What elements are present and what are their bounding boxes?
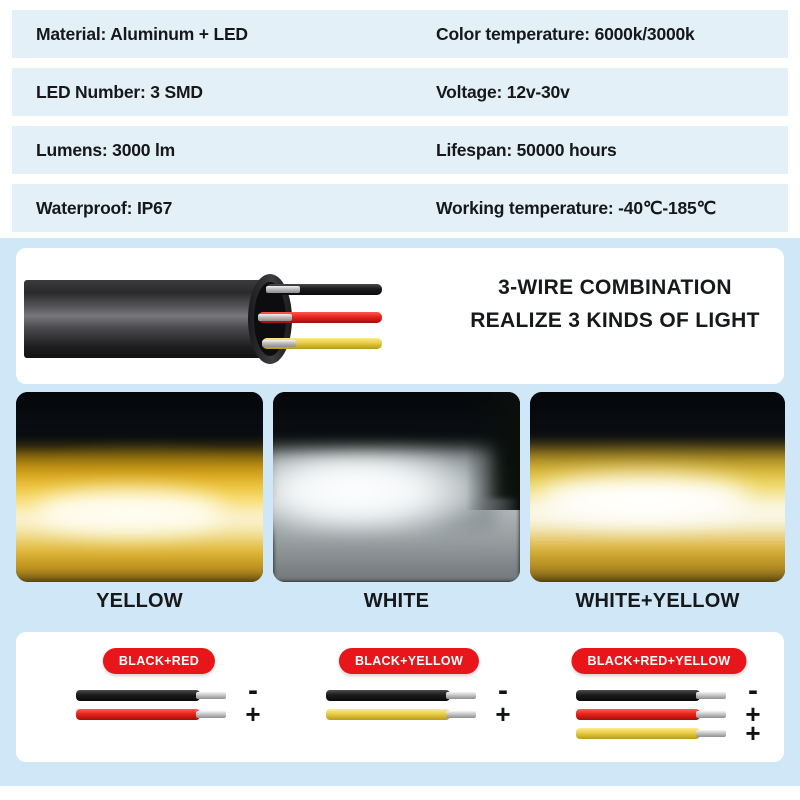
beam-photo-white <box>273 392 520 582</box>
wire-group: - + <box>76 690 256 728</box>
wire-tip <box>696 692 726 699</box>
status-badge: BLACK+RED <box>103 648 215 674</box>
cable-sheath <box>24 280 268 358</box>
polarity-positive: + <box>240 701 266 727</box>
wire-row: - <box>326 690 506 702</box>
wiring-combo-black-red-yellow: BLACK+RED+YELLOW - + + <box>534 632 784 762</box>
wire-tip <box>446 711 476 718</box>
wire-tip <box>696 730 726 737</box>
wire-row: - <box>576 690 756 702</box>
beam-photo-white-yellow <box>530 392 785 582</box>
wire-row: + <box>326 709 506 721</box>
cable-headline-line-1: 3-WIRE COMBINATION <box>452 272 778 305</box>
wire-yellow-icon <box>326 709 450 720</box>
wire-tip <box>696 711 726 718</box>
wire-tip <box>258 314 292 321</box>
cable-headline-line-2: REALIZE 3 KINDS OF LIGHT <box>452 305 778 338</box>
wiring-combo-black-yellow: BLACK+YELLOW - + <box>284 632 534 762</box>
three-wire-cable-illustration <box>22 254 452 378</box>
table-row: Lumens: 3000 lm Lifespan: 50000 hours <box>12 126 788 174</box>
cable-wire-black-icon <box>266 284 382 295</box>
wire-red-icon <box>76 709 200 720</box>
wire-group: - + + <box>576 690 756 747</box>
polarity-positive: + <box>740 720 766 746</box>
polarity-positive: + <box>490 701 516 727</box>
cable-wire-yellow-icon <box>262 338 382 349</box>
beam-label-white-yellow: WHITE+YELLOW <box>530 590 785 613</box>
cable-feature-card: 3-WIRE COMBINATION REALIZE 3 KINDS OF LI… <box>16 248 784 384</box>
wire-row: + <box>576 728 756 740</box>
wire-black-icon <box>76 690 200 701</box>
wire-yellow-icon <box>576 728 700 739</box>
spec-lifespan: Lifespan: 50000 hours <box>436 140 617 161</box>
table-row: LED Number: 3 SMD Voltage: 12v-30v <box>12 68 788 116</box>
wire-tip <box>266 286 300 293</box>
photo-shadow <box>466 392 520 510</box>
product-infographic: Material: Aluminum + LED Color temperatu… <box>0 0 800 800</box>
spec-material: Material: Aluminum + LED <box>36 24 436 45</box>
wire-tip <box>446 692 476 699</box>
wire-tip <box>196 692 226 699</box>
wire-row: + <box>576 709 756 721</box>
status-badge: BLACK+RED+YELLOW <box>571 648 746 674</box>
beam-label-white: WHITE <box>273 590 520 613</box>
wire-black-icon <box>326 690 450 701</box>
beam-photo-gallery <box>0 392 800 588</box>
beam-label-yellow: YELLOW <box>16 590 263 613</box>
spec-led-number: LED Number: 3 SMD <box>36 82 436 103</box>
table-row: Material: Aluminum + LED Color temperatu… <box>12 10 788 58</box>
wire-black-icon <box>576 690 700 701</box>
blue-content-panel: 3-WIRE COMBINATION REALIZE 3 KINDS OF LI… <box>0 238 800 786</box>
wire-row: + <box>76 709 256 721</box>
table-row: Waterproof: IP67 Working temperature: -4… <box>12 184 788 232</box>
wire-group: - + <box>326 690 506 728</box>
wiring-combination-card: BLACK+RED - + BLACK+YELLOW <box>16 632 784 762</box>
spec-lumens: Lumens: 3000 lm <box>36 140 436 161</box>
specifications-table: Material: Aluminum + LED Color temperatu… <box>0 0 800 238</box>
status-badge: BLACK+YELLOW <box>339 648 479 674</box>
spec-color-temperature: Color temperature: 6000k/3000k <box>436 24 695 45</box>
wire-row: - <box>76 690 256 702</box>
spec-waterproof: Waterproof: IP67 <box>36 198 436 219</box>
wire-tip <box>196 711 226 718</box>
spec-working-temperature: Working temperature: -40℃-185℃ <box>436 198 716 219</box>
cable-headline: 3-WIRE COMBINATION REALIZE 3 KINDS OF LI… <box>452 272 778 337</box>
white-beam-glow <box>273 449 495 533</box>
beam-hotspot <box>36 491 224 533</box>
wire-tip <box>262 340 296 347</box>
cable-wire-red-icon <box>258 312 382 323</box>
wiring-combo-black-red: BLACK+RED - + <box>34 632 284 762</box>
spec-voltage: Voltage: 12v-30v <box>436 82 570 103</box>
beam-hotspot <box>540 476 749 522</box>
beam-photo-yellow <box>16 392 263 582</box>
wire-red-icon <box>576 709 700 720</box>
